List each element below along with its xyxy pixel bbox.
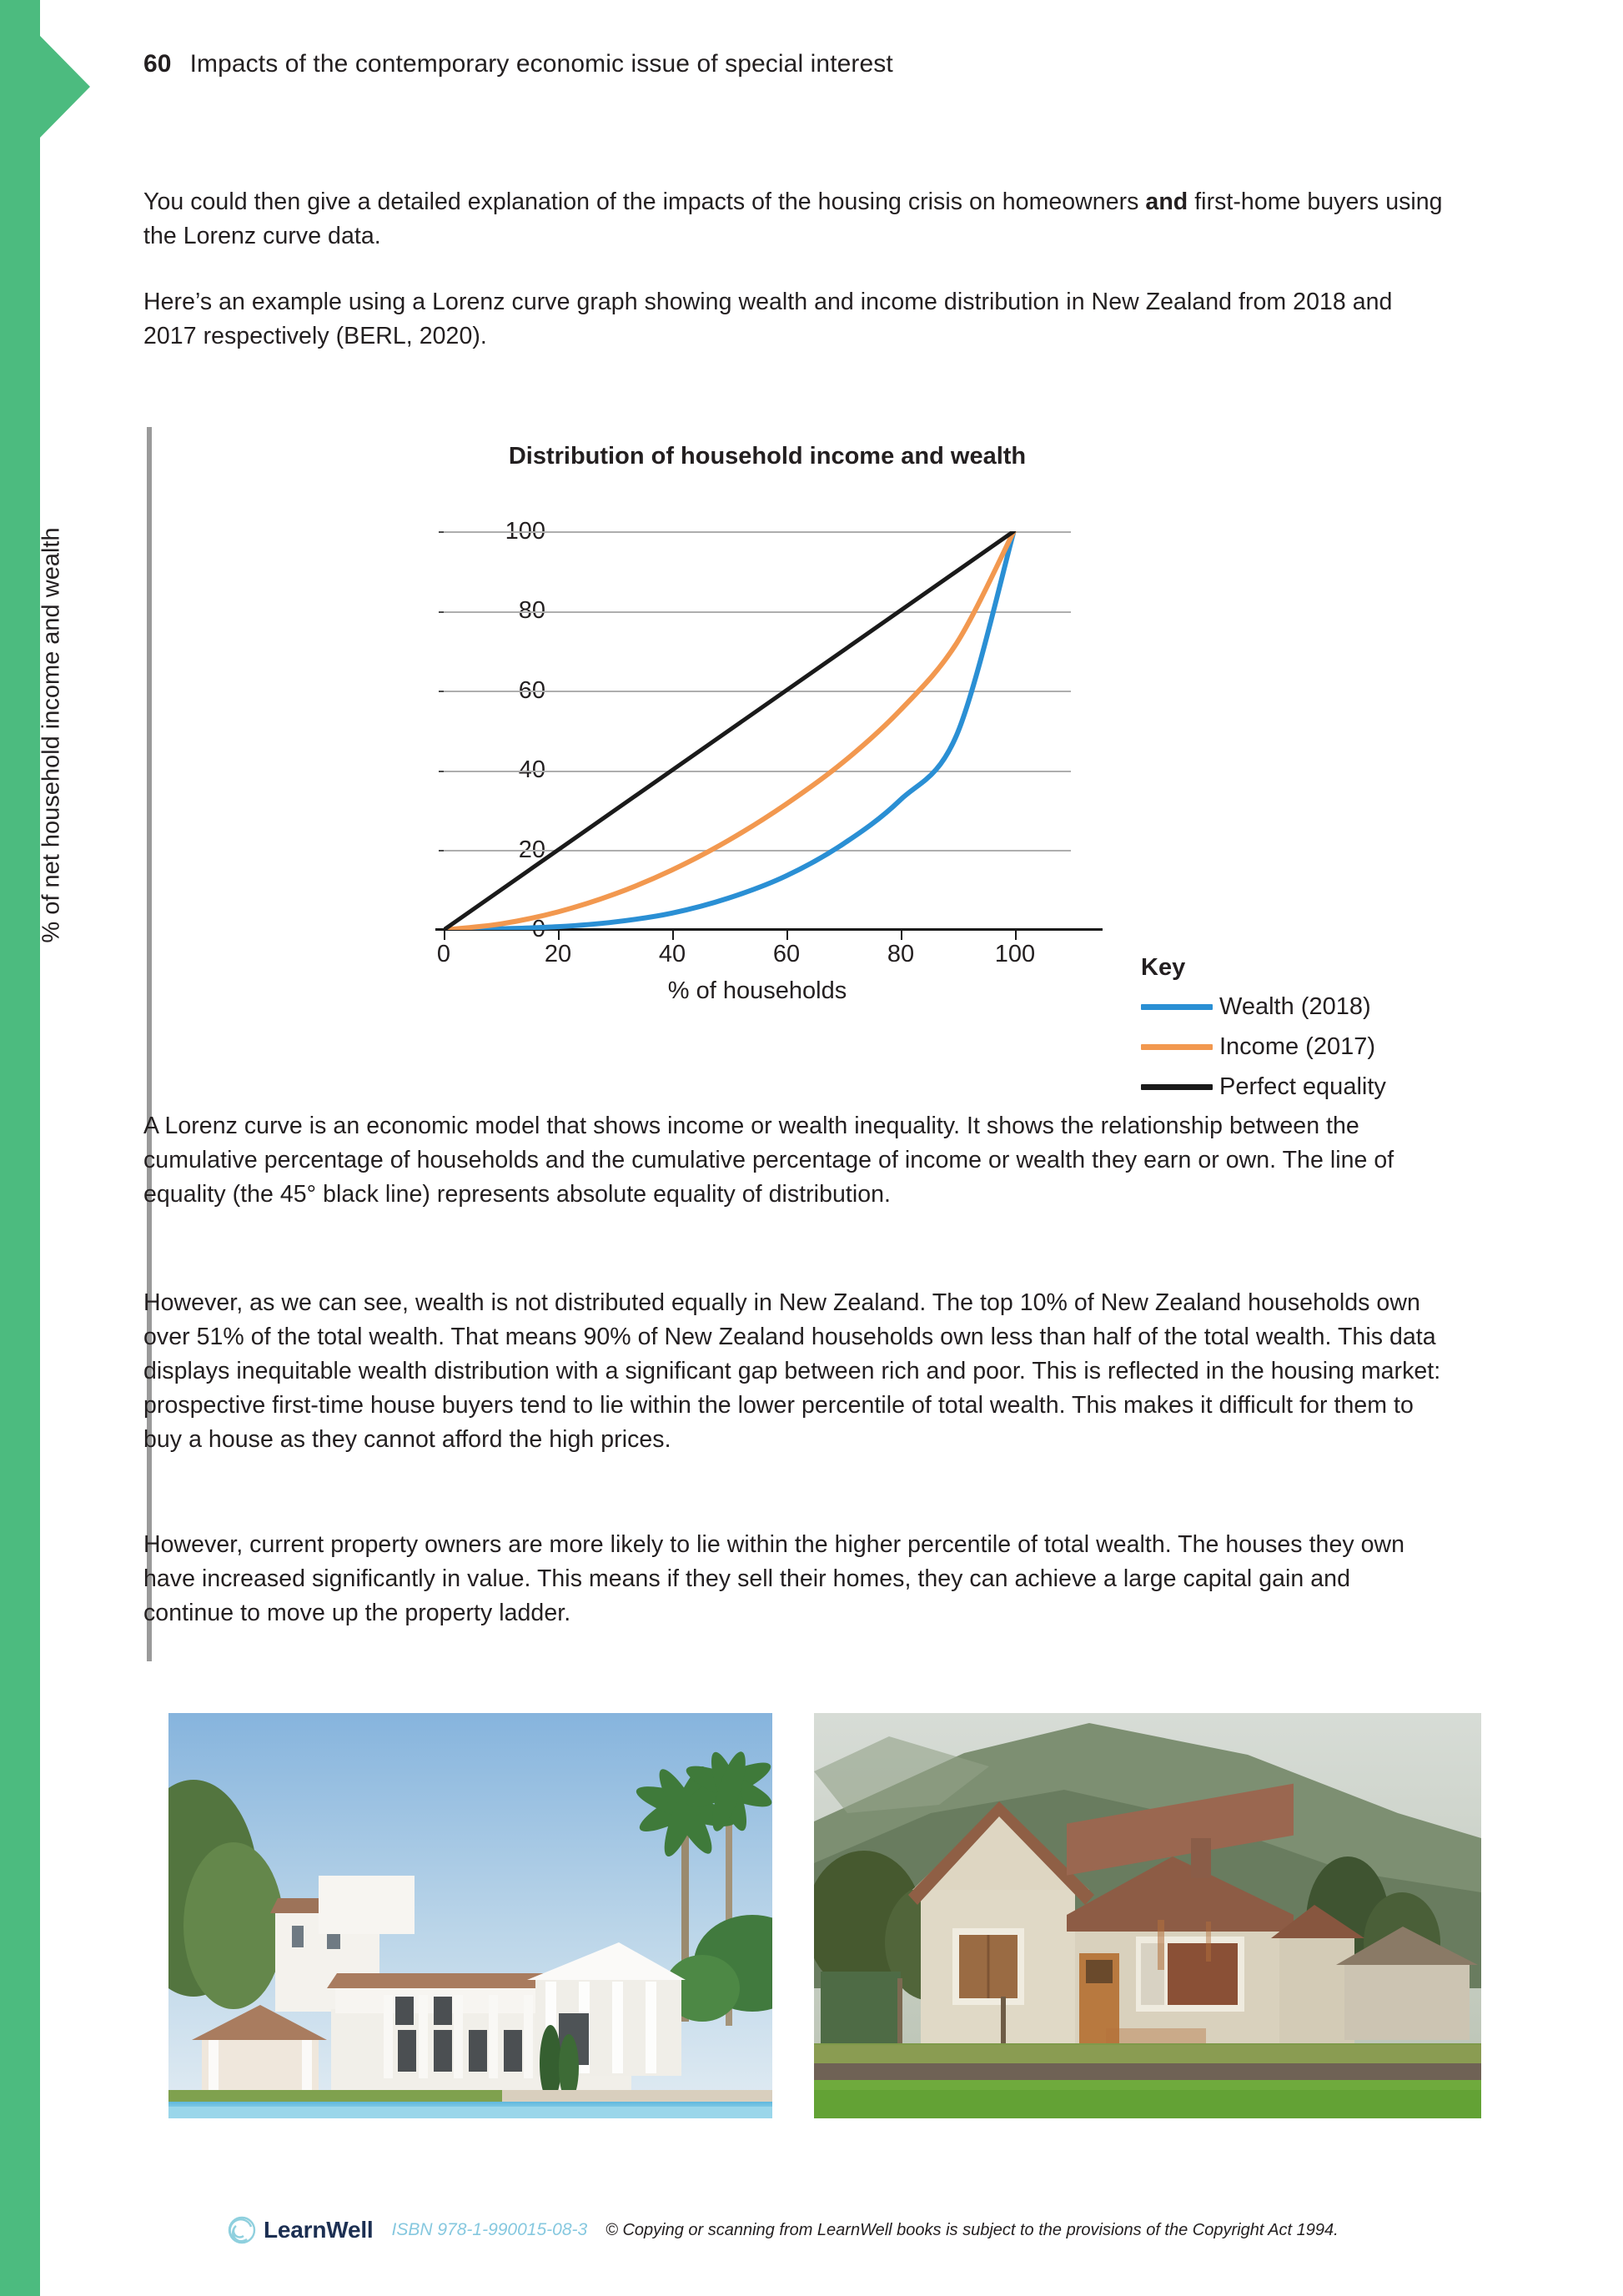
copyright-notice: © Copying or scanning from LearnWell boo… bbox=[605, 2221, 1339, 2240]
x-tick-label-40: 40 bbox=[622, 941, 722, 968]
x-tick-mark-100 bbox=[1015, 930, 1017, 940]
x-tick-label-0: 0 bbox=[394, 941, 494, 968]
page-number: 60 bbox=[143, 50, 172, 78]
chart-plot-area bbox=[444, 531, 1071, 930]
learnwell-spiral-icon bbox=[227, 2215, 257, 2245]
chart-legend-item: Wealth (2018) bbox=[1141, 987, 1386, 1027]
page-footer: LearnWell ISBN 978-1-990015-08-3 © Copyi… bbox=[227, 2215, 1339, 2245]
paragraph-example-intro: Here’s an example using a Lorenz curve g… bbox=[143, 285, 1445, 354]
paragraph-intro-emphasis: and bbox=[1145, 188, 1188, 215]
chart-legend: Key Wealth (2018)Income (2017)Perfect eq… bbox=[1141, 954, 1386, 1107]
chart-legend-label: Income (2017) bbox=[1219, 1033, 1375, 1061]
x-tick-mark-20 bbox=[558, 930, 560, 940]
photo-luxury-mansion bbox=[168, 1713, 772, 2118]
photo-rundown-cottage bbox=[814, 1713, 1481, 2118]
chart-legend-title: Key bbox=[1141, 954, 1386, 982]
accent-chevron-icon bbox=[40, 36, 90, 138]
paragraph-intro-lead: You could then give a detailed explanati… bbox=[143, 188, 1145, 215]
paragraph-intro: You could then give a detailed explanati… bbox=[143, 185, 1445, 254]
chart-legend-item: Perfect equality bbox=[1141, 1067, 1386, 1107]
lorenz-curve-figure: Distribution of household income and wea… bbox=[0, 434, 1623, 1042]
x-tick-label-20: 20 bbox=[508, 941, 608, 968]
x-tick-mark-40 bbox=[672, 930, 674, 940]
x-tick-mark-60 bbox=[786, 930, 788, 940]
chart-legend-label: Perfect equality bbox=[1219, 1073, 1386, 1101]
isbn-text: ISBN 978-1-990015-08-3 bbox=[392, 2220, 588, 2240]
chart-legend-swatch bbox=[1141, 1084, 1213, 1090]
chart-legend-swatch bbox=[1141, 1044, 1213, 1050]
x-tick-mark-0 bbox=[444, 930, 445, 940]
chart-series-svg bbox=[444, 531, 1071, 930]
chart-legend-item: Income (2017) bbox=[1141, 1027, 1386, 1067]
x-tick-label-100: 100 bbox=[965, 941, 1065, 968]
paragraph-lorenz-explanation: A Lorenz curve is an economic model that… bbox=[143, 1109, 1445, 1212]
learnwell-wordmark: LearnWell bbox=[264, 2217, 374, 2243]
chart-legend-swatch bbox=[1141, 1004, 1213, 1010]
x-tick-label-60: 60 bbox=[736, 941, 837, 968]
chart-title: Distribution of household income and wea… bbox=[434, 443, 1101, 470]
chart-legend-label: Wealth (2018) bbox=[1219, 993, 1371, 1021]
accent-side-band bbox=[0, 0, 40, 2296]
x-tick-mark-80 bbox=[901, 930, 902, 940]
running-title: Impacts of the contemporary economic iss… bbox=[190, 50, 893, 78]
chart-y-axis-label: % of net household income and wealth bbox=[38, 460, 66, 1011]
running-head: 60Impacts of the contemporary economic i… bbox=[143, 50, 893, 78]
x-tick-label-80: 80 bbox=[851, 941, 951, 968]
chart-series-perfect-equality bbox=[444, 531, 1014, 930]
chart-x-axis-label: % of households bbox=[444, 977, 1071, 1005]
paragraph-wealth-inequality: However, as we can see, wealth is not di… bbox=[143, 1286, 1445, 1457]
paragraph-property-owners: However, current property owners are mor… bbox=[143, 1528, 1445, 1630]
